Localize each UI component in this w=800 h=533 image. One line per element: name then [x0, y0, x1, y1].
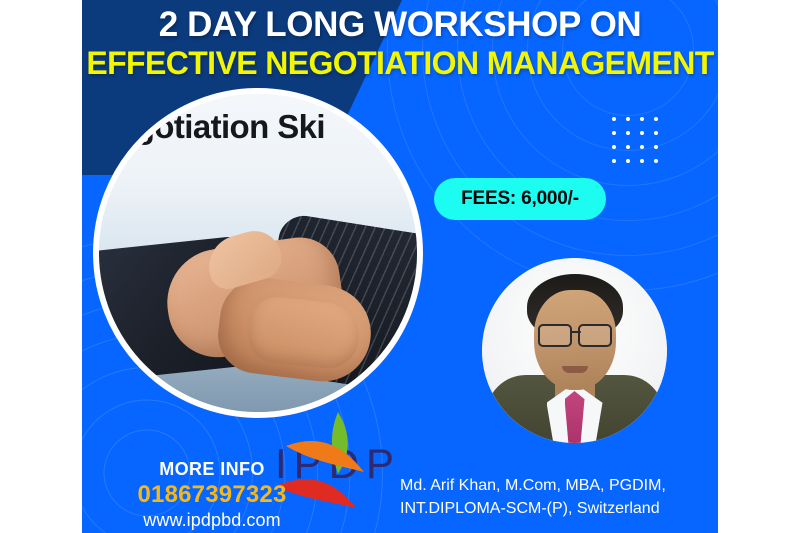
speaker-qualification-line: INT.DIPLOMA-SCM-(P), Switzerland — [400, 497, 716, 520]
grid-dot — [640, 159, 644, 163]
grid-dot — [654, 159, 658, 163]
grid-dot — [626, 145, 630, 149]
poster-canvas: 2 DAY LONG WORKSHOP ON EFFECTIVE NEGOTIA… — [82, 0, 718, 533]
speaker-name-line: Md. Arif Khan, M.Com, MBA, PGDIM, — [400, 474, 716, 497]
grid-dot — [654, 117, 658, 121]
handshake-photo-caption: egotiation Ski — [117, 108, 325, 146]
grid-dot — [612, 131, 616, 135]
handshake-photo: egotiation Ski — [93, 88, 423, 418]
title-line-primary: 2 DAY LONG WORKSHOP ON — [82, 6, 718, 44]
contact-phone[interactable]: 01867397323 — [92, 481, 332, 509]
grid-dot — [612, 117, 616, 121]
portrait-mouth — [562, 366, 588, 373]
speaker-credentials: Md. Arif Khan, M.Com, MBA, PGDIM, INT.DI… — [400, 474, 716, 520]
fees-badge: FEES: 6,000/- — [434, 178, 606, 220]
grid-dot — [612, 159, 616, 163]
contact-website[interactable]: www.ipdpbd.com — [92, 509, 332, 532]
grid-dot — [626, 159, 630, 163]
glasses-right-lens — [578, 324, 612, 347]
grid-dot — [612, 145, 616, 149]
glasses-left-lens — [538, 324, 572, 347]
grid-dot — [640, 131, 644, 135]
grid-dot — [640, 117, 644, 121]
grid-dot — [654, 131, 658, 135]
fees-badge-label: FEES: 6,000/- — [461, 188, 579, 210]
page-title: 2 DAY LONG WORKSHOP ON EFFECTIVE NEGOTIA… — [82, 6, 718, 82]
grid-dot — [626, 117, 630, 121]
grid-dot — [626, 131, 630, 135]
contact-info: MORE INFO 01867397323 www.ipdpbd.com — [92, 458, 332, 532]
handshake-photo-background: egotiation Ski — [99, 94, 417, 412]
title-line-secondary: EFFECTIVE NEGOTIATION MANAGEMENT — [82, 46, 718, 82]
grid-dot — [654, 145, 658, 149]
speaker-portrait — [482, 258, 667, 443]
more-info-label: MORE INFO — [92, 458, 332, 481]
dot-grid-decoration — [607, 112, 663, 168]
glasses-icon — [535, 324, 615, 344]
grid-dot — [640, 145, 644, 149]
